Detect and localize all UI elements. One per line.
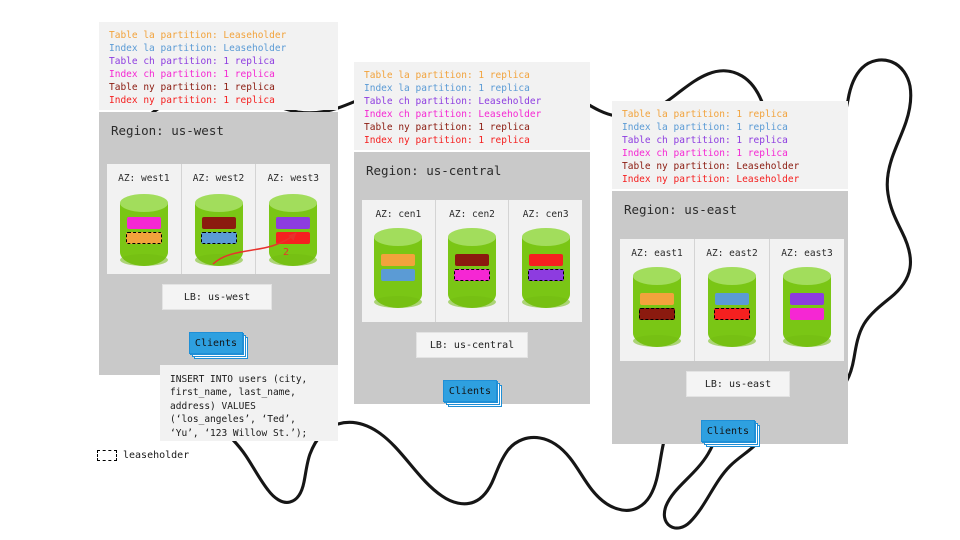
cylinder-bottom [633, 335, 681, 347]
database-cylinder[interactable] [708, 267, 756, 347]
partition-chip[interactable] [276, 217, 310, 229]
region-cluster-us-central: Table la partition: 1 replica Index la p… [354, 62, 590, 404]
cylinder-top [783, 267, 831, 285]
region-box-us-east: Region: us-east AZ: east1 AZ: east2 [612, 191, 848, 444]
az-cell-cen3[interactable]: AZ: cen3 [509, 200, 582, 322]
legend-line: Table ch partition: 1 replica [109, 55, 328, 68]
cylinder-top [448, 228, 496, 246]
region-cluster-us-west: Table la partition: Leaseholder Index la… [99, 22, 338, 352]
az-label: AZ: cen2 [436, 209, 509, 220]
partition-chip[interactable] [529, 254, 563, 266]
region-title: Region: us-east [624, 202, 737, 217]
az-row-us-west: AZ: west1 AZ: west2 [107, 164, 330, 274]
annotation-number: 2 [283, 247, 289, 258]
az-label: AZ: east3 [770, 248, 844, 259]
leaseholder-key-label: leaseholder [123, 450, 189, 461]
partition-chip[interactable] [276, 232, 310, 244]
legend-line: Index ny partition: 1 replica [364, 134, 580, 147]
leaseholder-key: leaseholder [97, 450, 189, 461]
legend-line: Table ny partition: 1 replica [364, 121, 580, 134]
region-box-us-central: Region: us-central AZ: cen1 AZ: cen2 [354, 152, 590, 404]
partition-chip-leaseholder[interactable] [639, 308, 675, 320]
az-label: AZ: west2 [182, 173, 256, 184]
database-cylinder[interactable] [374, 228, 422, 308]
az-cell-west3[interactable]: AZ: west3 [256, 164, 330, 274]
az-label: AZ: east2 [695, 248, 769, 259]
sql-line: (‘los_angeles’, ‘Ted’, [170, 413, 328, 426]
az-cell-east1[interactable]: AZ: east1 [620, 239, 695, 361]
legend-line: Table ch partition: Leaseholder [364, 95, 580, 108]
partition-chip[interactable] [381, 269, 415, 281]
cylinder-bottom [448, 296, 496, 308]
cylinder-top [269, 194, 317, 212]
az-row-us-east: AZ: east1 AZ: east2 [620, 239, 844, 361]
legend-line: Table ny partition: Leaseholder [622, 160, 838, 173]
legend-line: Table ny partition: 1 replica [109, 81, 328, 94]
cylinder-bottom [522, 296, 570, 308]
partition-chip[interactable] [202, 217, 236, 229]
az-cell-east2[interactable]: AZ: east2 [695, 239, 770, 361]
sql-statement-note: INSERT INTO users (city, first_name, las… [160, 365, 338, 441]
legend-line: Table la partition: 1 replica [622, 108, 838, 121]
clients-label[interactable]: Clients [189, 332, 243, 354]
sql-line: first_name, last_name, [170, 386, 328, 399]
legend-line: Index ch partition: 1 replica [622, 147, 838, 160]
legend-line: Index la partition: 1 replica [364, 82, 580, 95]
region-box-us-west: Region: us-west AZ: west1 AZ: west2 [99, 112, 338, 375]
load-balancer-us-west[interactable]: LB: us-west [162, 284, 272, 310]
region-title: Region: us-west [111, 123, 224, 138]
database-cylinder[interactable] [120, 194, 168, 266]
partition-chip-leaseholder[interactable] [528, 269, 564, 281]
clients-us-west[interactable]: Clients [189, 332, 247, 358]
database-cylinder[interactable] [195, 194, 243, 266]
partition-chip-leaseholder[interactable] [454, 269, 490, 281]
clients-label[interactable]: Clients [443, 380, 497, 402]
database-cylinder[interactable] [522, 228, 570, 308]
az-cell-west2[interactable]: AZ: west2 [182, 164, 257, 274]
load-balancer-us-east[interactable]: LB: us-east [686, 371, 790, 397]
clients-label[interactable]: Clients [701, 420, 755, 442]
partition-legend-us-east: Table la partition: 1 replica Index la p… [612, 101, 848, 189]
az-label: AZ: west3 [256, 173, 330, 184]
cylinder-bottom [708, 335, 756, 347]
az-cell-east3[interactable]: AZ: east3 [770, 239, 844, 361]
region-title: Region: us-central [366, 163, 501, 178]
cylinder-top [522, 228, 570, 246]
cylinder-bottom [195, 254, 243, 266]
partition-chip[interactable] [640, 293, 674, 305]
cylinder-top [374, 228, 422, 246]
region-cluster-us-east: Table la partition: 1 replica Index la p… [612, 101, 848, 444]
cylinder-top [708, 267, 756, 285]
legend-line: Table la partition: Leaseholder [109, 29, 328, 42]
cylinder-bottom [783, 335, 831, 347]
cylinder-bottom [269, 254, 317, 266]
az-label: AZ: east1 [620, 248, 694, 259]
partition-chip[interactable] [715, 293, 749, 305]
legend-line: Index ch partition: 1 replica [109, 68, 328, 81]
sql-line: address) VALUES [170, 400, 328, 413]
legend-line: Index la partition: Leaseholder [109, 42, 328, 55]
legend-line: Table ch partition: 1 replica [622, 134, 838, 147]
cylinder-top [195, 194, 243, 212]
legend-line: Table la partition: 1 replica [364, 69, 580, 82]
partition-chip-leaseholder[interactable] [126, 232, 162, 244]
cylinder-top [633, 267, 681, 285]
partition-legend-us-west: Table la partition: Leaseholder Index la… [99, 22, 338, 110]
partition-chip[interactable] [381, 254, 415, 266]
cylinder-top [120, 194, 168, 212]
database-cylinder[interactable] [783, 267, 831, 347]
az-label: AZ: cen3 [509, 209, 582, 220]
database-cylinder[interactable] [633, 267, 681, 347]
clients-us-east[interactable]: Clients [701, 420, 759, 446]
legend-line: Index ny partition: 1 replica [109, 94, 328, 107]
sql-line: ‘Yu’, ‘123 Willow St.’); [170, 427, 328, 440]
cylinder-bottom [120, 254, 168, 266]
az-cell-west1[interactable]: AZ: west1 [107, 164, 182, 274]
az-cell-cen2[interactable]: AZ: cen2 [436, 200, 510, 322]
legend-line: Index la partition: 1 replica [622, 121, 838, 134]
sql-line: INSERT INTO users (city, [170, 373, 328, 386]
partition-chip[interactable] [455, 254, 489, 266]
az-cell-cen1[interactable]: AZ: cen1 [362, 200, 436, 322]
load-balancer-us-central[interactable]: LB: us-central [416, 332, 528, 358]
partition-legend-us-central: Table la partition: 1 replica Index la p… [354, 62, 590, 150]
partition-chip[interactable] [790, 308, 824, 320]
legend-line: Index ny partition: Leaseholder [622, 173, 838, 186]
partition-chip-leaseholder[interactable] [714, 308, 750, 320]
diagram-canvas: Table la partition: Leaseholder Index la… [0, 0, 960, 540]
az-label: AZ: west1 [107, 173, 181, 184]
clients-us-central[interactable]: Clients [443, 380, 501, 406]
database-cylinder[interactable] [269, 194, 317, 266]
partition-chip[interactable] [127, 217, 161, 229]
az-row-us-central: AZ: cen1 AZ: cen2 [362, 200, 582, 322]
dashed-box-icon [97, 450, 117, 461]
database-cylinder[interactable] [448, 228, 496, 308]
legend-line: Index ch partition: Leaseholder [364, 108, 580, 121]
partition-chip-leaseholder[interactable] [201, 232, 237, 244]
cylinder-bottom [374, 296, 422, 308]
partition-chip[interactable] [790, 293, 824, 305]
az-label: AZ: cen1 [362, 209, 435, 220]
